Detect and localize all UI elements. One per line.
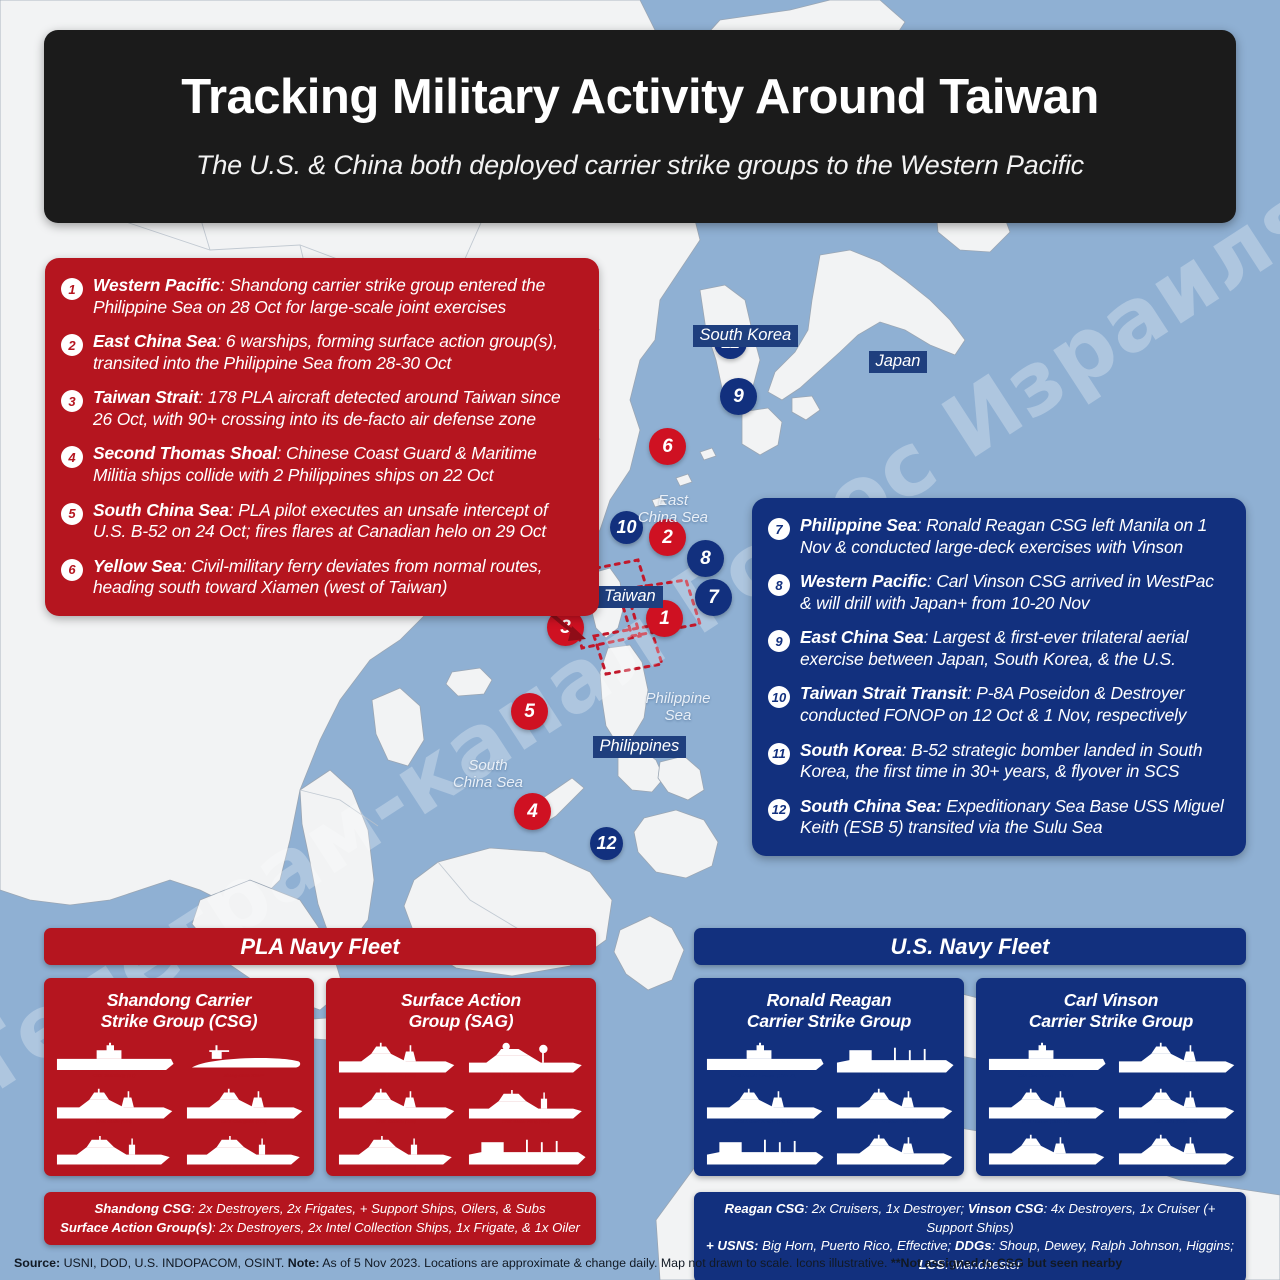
- map-marker-7[interactable]: 7: [695, 579, 732, 616]
- ship-item: CNS Xuchang (536): [52, 1133, 176, 1173]
- legend-number-badge-12: 12: [768, 799, 790, 821]
- ship-item: USS Ronald Reagan (CVN 76): [702, 1041, 826, 1081]
- legend-item-10: 10Taiwan Strait Transit: P-8A Poseidon &…: [768, 683, 1226, 726]
- ship-silhouette-icon: [702, 1133, 826, 1167]
- fleet-summary-key: Vinson CSG: [968, 1201, 1044, 1216]
- map-marker-5[interactable]: 5: [511, 693, 548, 730]
- ship-name-label: USS William P. Lawrence (DDG 110): [1114, 1165, 1238, 1170]
- legend-number-badge-2: 2: [61, 334, 83, 356]
- legend-item-7: 7Philippine Sea: Ronald Reagan CSG left …: [768, 515, 1226, 558]
- ship-item: CNS Shandong (17): [52, 1041, 176, 1081]
- ship-silhouette-icon: [984, 1133, 1108, 1167]
- ship-silhouette-icon: [1114, 1133, 1238, 1167]
- map-marker-9[interactable]: 9: [720, 378, 757, 415]
- ship-name-label: USS Kidd (DDG 100): [1114, 1119, 1238, 1124]
- ship-silhouette-icon: [832, 1133, 956, 1167]
- legend-place-12: South China Sea:: [800, 796, 942, 816]
- legend-place-5: South China Sea: [93, 500, 229, 520]
- legend-text-8: Western Pacific: Carl Vinson CSG arrived…: [800, 571, 1226, 614]
- footer-asterisk-note: **Not assigned to CSG but seen nearby: [891, 1256, 1122, 1270]
- legend-item-12: 12South China Sea: Expeditionary Sea Bas…: [768, 796, 1226, 839]
- ship-item: CNS Hongzehu (8902): [464, 1133, 588, 1173]
- strike-group-card-usn-0: Ronald ReaganCarrier Strike GroupUSS Ron…: [694, 978, 964, 1176]
- footer-source-label: Source:: [14, 1256, 60, 1270]
- legend-place-11: South Korea: [800, 740, 902, 760]
- ship-name-label: USS Carl Vinson (CVN 70): [984, 1073, 1108, 1078]
- ship-silhouette-icon: [464, 1041, 588, 1075]
- legend-item-4: 4Second Thomas Shoal: Chinese Coast Guar…: [61, 443, 579, 486]
- legend-text-9: East China Sea: Largest & first-ever tri…: [800, 627, 1226, 670]
- ship-grid: CNS Taizhou (138)Type 815 Surveillance s…: [326, 1031, 596, 1181]
- fleet-summary-key: Surface Action Group(s): [60, 1220, 212, 1235]
- ship-silhouette-icon: [1114, 1041, 1238, 1075]
- legend-number-badge-4: 4: [61, 446, 83, 468]
- strike-group-name-usn-1: Carl VinsonCarrier Strike Group: [976, 990, 1246, 1031]
- map-marker-4[interactable]: 4: [514, 793, 551, 830]
- legend-text-1: Western Pacific: Shandong carrier strike…: [93, 275, 579, 318]
- ship-silhouette-icon: [984, 1087, 1108, 1121]
- footer-note-label: Note:: [288, 1256, 320, 1270]
- legend-number-badge-11: 11: [768, 743, 790, 765]
- ship-name-label: CNS Taizhou (138): [334, 1073, 458, 1078]
- strike-group-card-pla-1: Surface ActionGroup (SAG)CNS Taizhou (13…: [326, 978, 596, 1176]
- legend-item-6: 6Yellow Sea: Civil-military ferry deviat…: [61, 556, 579, 599]
- map-sea-label-philippine-sea: PhilippineSea: [608, 690, 748, 725]
- ship-name-label: CNS Xuchang (536): [52, 1165, 176, 1170]
- ship-item: CNS Jinhong (595): [334, 1133, 458, 1173]
- ship-name-label: CNS Hongzehu (8902): [464, 1165, 588, 1170]
- legend-text-4: Second Thomas Shoal: Chinese Coast Guard…: [93, 443, 579, 486]
- footer-sources: Source: USNI, DOD, U.S. INDOPACOM, OSINT…: [0, 1246, 1280, 1280]
- ship-name-label: CNS Huanshan (574): [182, 1165, 306, 1170]
- page-title: Tracking Military Activity Around Taiwan: [181, 72, 1099, 123]
- legend-panel-pla: 1Western Pacific: Shandong carrier strik…: [45, 258, 599, 616]
- map-place-label-japan: Japan: [869, 351, 928, 373]
- fleet-summary-pla: Shandong CSG: 2x Destroyers, 2x Frigates…: [44, 1192, 596, 1245]
- legend-number-badge-3: 3: [61, 390, 83, 412]
- legend-text-3: Taiwan Strait: 178 PLA aircraft detected…: [93, 387, 579, 430]
- ship-item: USNS Yukon (T-AO 202)**: [702, 1133, 826, 1173]
- ship-name-label: USS Sterett (DDG 104): [984, 1165, 1108, 1170]
- ship-silhouette-icon: [182, 1133, 306, 1167]
- legend-text-7: Philippine Sea: Ronald Reagan CSG left M…: [800, 515, 1226, 558]
- ship-item: USNS Carl Brashear (T-AKE 7)**: [832, 1041, 956, 1081]
- legend-number-badge-5: 5: [61, 503, 83, 525]
- ship-silhouette-icon: [832, 1041, 956, 1075]
- ship-name-label: USS Princeton (CG 59): [1114, 1073, 1238, 1078]
- ship-name-label: CNS Taizhou (138): [334, 1119, 458, 1124]
- ship-name-label: CNS Shandong (17): [52, 1073, 176, 1078]
- page-subtitle: The U.S. & China both deployed carrier s…: [196, 150, 1084, 181]
- ship-silhouette-icon: [464, 1133, 588, 1167]
- ship-silhouette-icon: [334, 1041, 458, 1075]
- ship-name-label: Type 815 Surveillance ship (796): [464, 1073, 588, 1078]
- ship-name-label: USS Ronald Reagan (CVN 76): [702, 1073, 826, 1078]
- ship-silhouette-icon: [702, 1041, 826, 1075]
- legend-place-4: Second Thomas Shoal: [93, 443, 277, 463]
- fleet-summary-line: Surface Action Group(s): 2x Destroyers, …: [56, 1219, 584, 1238]
- legend-place-1: Western Pacific: [93, 275, 220, 295]
- ship-silhouette-icon: [984, 1041, 1108, 1075]
- strike-group-card-usn-1: Carl VinsonCarrier Strike GroupUSS Carl …: [976, 978, 1246, 1176]
- fleet-title-pla: PLA Navy Fleet: [44, 928, 596, 965]
- ship-silhouette-icon: [334, 1087, 458, 1121]
- ship-item: USS Robert Smalls (CG 62): [702, 1087, 826, 1127]
- legend-text-12: South China Sea: Expeditionary Sea Base …: [800, 796, 1226, 839]
- ship-name-label: USS Robert Smalls (CG 62): [702, 1119, 826, 1124]
- ship-item: USS Sterett (DDG 104): [984, 1133, 1108, 1173]
- ship-silhouette-icon: [702, 1087, 826, 1121]
- strike-group-name-pla-0: Shandong CarrierStrike Group (CSG): [44, 990, 314, 1031]
- map-sea-label-east-china-sea: EastChina Sea: [603, 492, 743, 527]
- ship-item: USS Princeton (CG 59): [1114, 1041, 1238, 1081]
- footer-note-text: As of 5 Nov 2023. Locations are approxim…: [319, 1256, 890, 1270]
- ship-name-label: USNS Carl Brashear (T-AKE 7)**: [832, 1073, 956, 1078]
- fleet-summary-line: Reagan CSG: 2x Cruisers, 1x Destroyer; V…: [706, 1200, 1234, 1237]
- strike-group-name-pla-1: Surface ActionGroup (SAG): [326, 990, 596, 1031]
- legend-item-8: 8Western Pacific: Carl Vinson CSG arrive…: [768, 571, 1226, 614]
- legend-item-5: 5South China Sea: PLA pilot executes an …: [61, 500, 579, 543]
- legend-place-6: Yellow Sea: [93, 556, 182, 576]
- legend-number-badge-9: 9: [768, 630, 790, 652]
- map-marker-6[interactable]: 6: [649, 428, 686, 465]
- ship-name-label: USS Antietam (CG 54): [832, 1119, 956, 1124]
- fleet-summary-key: Reagan CSG: [725, 1201, 805, 1216]
- ship-silhouette-icon: [334, 1133, 458, 1167]
- ship-grid: USS Ronald Reagan (CVN 76)USNS Carl Bras…: [694, 1031, 964, 1181]
- ship-silhouette-icon: [464, 1087, 588, 1121]
- ship-item: CNS Changsha (173): [182, 1087, 306, 1127]
- legend-item-1: 1Western Pacific: Shandong carrier strik…: [61, 275, 579, 318]
- map-marker-8[interactable]: 8: [687, 540, 724, 577]
- ship-item: Type 815 Surveillance ship (796): [464, 1041, 588, 1081]
- legend-place-2: East China Sea: [93, 331, 217, 351]
- legend-number-badge-1: 1: [61, 278, 83, 300]
- ship-silhouette-icon: [52, 1133, 176, 1167]
- legend-place-9: East China Sea: [800, 627, 924, 647]
- legend-number-badge-10: 10: [768, 686, 790, 708]
- fleet-summary-line: Shandong CSG: 2x Destroyers, 2x Frigates…: [56, 1200, 584, 1219]
- legend-item-3: 3Taiwan Strait: 178 PLA aircraft detecte…: [61, 387, 579, 430]
- footer-source-text: USNI, DOD, U.S. INDOPACOM, OSINT.: [60, 1256, 288, 1270]
- ship-item: USS Antietam (CG 54): [832, 1087, 956, 1127]
- legend-text-5: South China Sea: PLA pilot executes an u…: [93, 500, 579, 543]
- legend-panel-us: 7Philippine Sea: Ronald Reagan CSG left …: [752, 498, 1246, 856]
- ship-grid: CNS Shandong (17)Shang-class SSN**CNS Gu…: [44, 1031, 314, 1181]
- fleet-title-usn: U.S. Navy Fleet: [694, 928, 1246, 965]
- legend-place-10: Taiwan Strait Transit: [800, 683, 967, 703]
- strike-group-name-usn-0: Ronald ReaganCarrier Strike Group: [694, 990, 964, 1031]
- ship-name-label: USNS Yukon (T-AO 202)**: [702, 1165, 826, 1170]
- legend-item-2: 2East China Sea: 6 warships, forming sur…: [61, 331, 579, 374]
- ship-name-label: CNS Changsha (173): [182, 1119, 306, 1124]
- ship-item: CNS Taizhou (138): [334, 1041, 458, 1081]
- map-place-label-philippines: Philippines: [593, 736, 687, 758]
- ship-item: USS William P. Lawrence (DDG 110): [1114, 1133, 1238, 1173]
- ship-name-label: USS Robert Venable (DDG 215): [832, 1165, 956, 1170]
- ship-item: USS Robert Venable (DDG 215): [832, 1133, 956, 1173]
- ship-item: CNS Taizhou (138): [334, 1087, 458, 1127]
- map-marker-12[interactable]: 12: [590, 827, 623, 860]
- ship-name-label: CNS Guilin (164): [52, 1119, 176, 1124]
- ship-name-label: USS Hopper (DDG 70): [984, 1119, 1108, 1124]
- header-banner: Tracking Military Activity Around Taiwan…: [44, 30, 1236, 223]
- fleet-summary-key: Shandong CSG: [94, 1201, 191, 1216]
- ship-silhouette-icon: [52, 1041, 176, 1075]
- ship-item: USS Hopper (DDG 70): [984, 1087, 1108, 1127]
- ship-name-label: CNS Wuhu Fang (593): [464, 1119, 588, 1124]
- ship-silhouette-icon: [182, 1041, 306, 1075]
- legend-item-11: 11South Korea: B-52 strategic bomber lan…: [768, 740, 1226, 783]
- legend-text-2: East China Sea: 6 warships, forming surf…: [93, 331, 579, 374]
- ship-item: USS Carl Vinson (CVN 70): [984, 1041, 1108, 1081]
- ship-name-label: CNS Jinhong (595): [334, 1165, 458, 1170]
- ship-item: USS Kidd (DDG 100): [1114, 1087, 1238, 1127]
- ship-silhouette-icon: [832, 1087, 956, 1121]
- legend-place-3: Taiwan Strait: [93, 387, 199, 407]
- ship-silhouette-icon: [52, 1087, 176, 1121]
- legend-text-6: Yellow Sea: Civil-military ferry deviate…: [93, 556, 579, 599]
- legend-number-badge-8: 8: [768, 574, 790, 596]
- infographic-root: Телеграм-канал Голос Израиля Tracking Mi…: [0, 0, 1280, 1280]
- ship-item: CNS Huanshan (574): [182, 1133, 306, 1173]
- legend-text-11: South Korea: B-52 strategic bomber lande…: [800, 740, 1226, 783]
- ship-name-label: Shang-class SSN**: [182, 1073, 306, 1078]
- strike-group-card-pla-0: Shandong CarrierStrike Group (CSG)CNS Sh…: [44, 978, 314, 1176]
- legend-item-9: 9East China Sea: Largest & first-ever tr…: [768, 627, 1226, 670]
- ship-item: CNS Guilin (164): [52, 1087, 176, 1127]
- map-sea-label-south-china-sea: SouthChina Sea: [418, 757, 558, 792]
- ship-silhouette-icon: [1114, 1087, 1238, 1121]
- ship-silhouette-icon: [182, 1087, 306, 1121]
- ship-grid: USS Carl Vinson (CVN 70)USS Princeton (C…: [976, 1031, 1246, 1181]
- map-place-label-south-korea: South Korea: [693, 325, 799, 347]
- ship-item: Shang-class SSN**: [182, 1041, 306, 1081]
- ship-item: CNS Wuhu Fang (593): [464, 1087, 588, 1127]
- legend-place-8: Western Pacific: [800, 571, 927, 591]
- legend-number-badge-7: 7: [768, 518, 790, 540]
- legend-place-7: Philippine Sea: [800, 515, 917, 535]
- legend-text-10: Taiwan Strait Transit: P-8A Poseidon & D…: [800, 683, 1226, 726]
- legend-number-badge-6: 6: [61, 559, 83, 581]
